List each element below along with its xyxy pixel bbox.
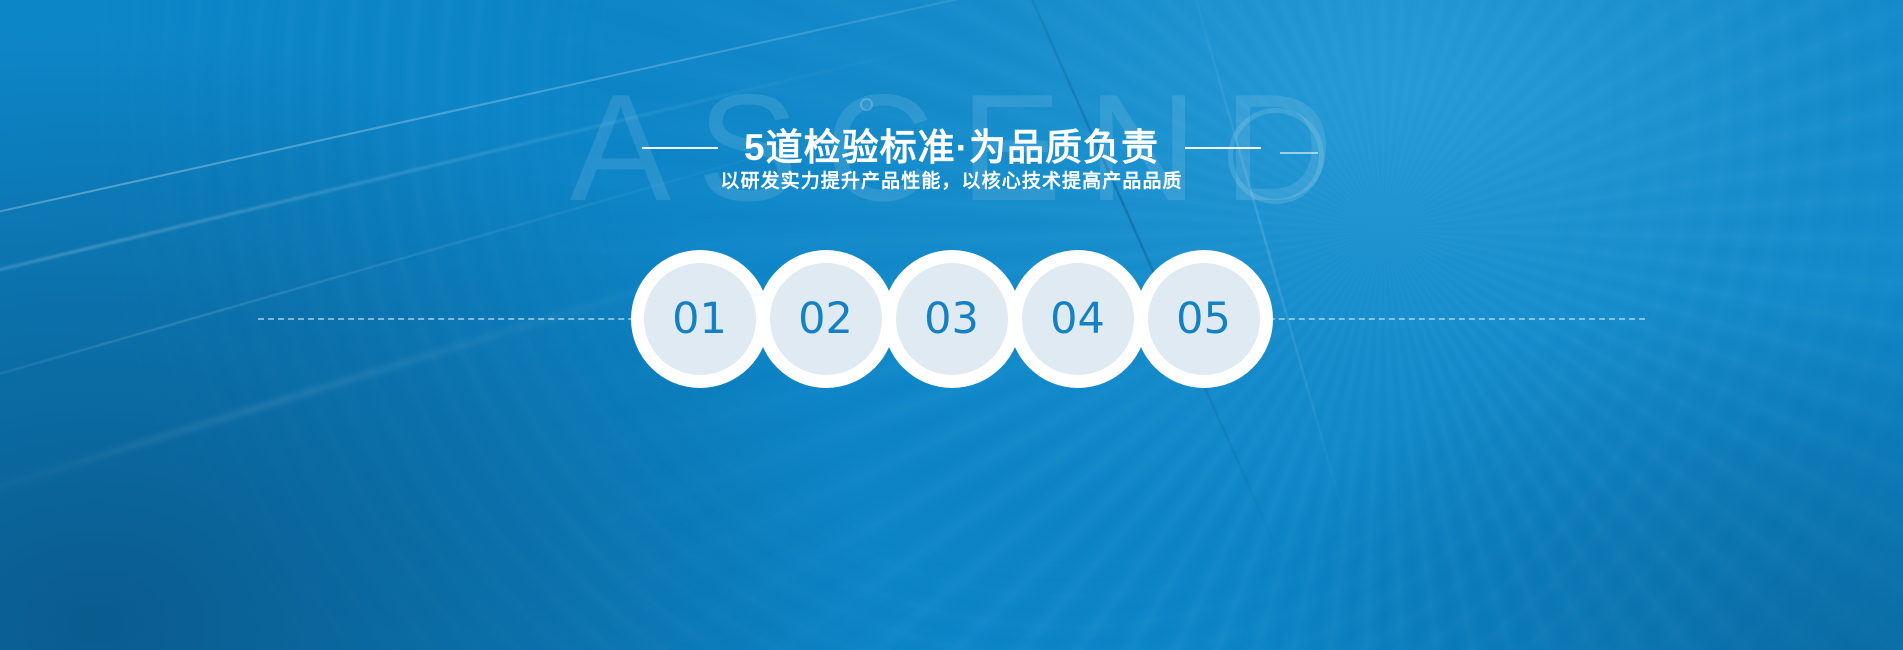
heading-rule-right-icon xyxy=(1185,147,1261,149)
step-circle-05[interactable]: 05 xyxy=(1135,250,1273,388)
step-circle-inner: 05 xyxy=(1148,263,1260,375)
quality-standards-banner: ASCEND 5道检验标准·为品质负责 以研发实力提升产品性能，以核心技术提高产… xyxy=(0,0,1903,650)
step-number: 04 xyxy=(1050,298,1105,341)
step-number: 02 xyxy=(798,298,853,341)
heading-rule-left-icon xyxy=(642,147,718,149)
step-number: 03 xyxy=(924,298,979,341)
step-number: 05 xyxy=(1176,298,1231,341)
step-circle-02[interactable]: 02 xyxy=(757,250,895,388)
step-circle-03[interactable]: 03 xyxy=(883,250,1021,388)
step-circle-01[interactable]: 01 xyxy=(631,250,769,388)
step-circle-inner: 03 xyxy=(896,263,1008,375)
step-circle-04[interactable]: 04 xyxy=(1009,250,1147,388)
step-circle-row: 01 02 03 04 05 xyxy=(0,250,1903,388)
step-circle-inner: 01 xyxy=(644,263,756,375)
process-steps: 01 02 03 04 05 xyxy=(0,250,1903,450)
step-circle-inner: 02 xyxy=(770,263,882,375)
step-circle-inner: 04 xyxy=(1022,263,1134,375)
page-title: 5道检验标准·为品质负责 xyxy=(744,125,1159,171)
page-subtitle: 以研发实力提升产品性能，以核心技术提高产品品质 xyxy=(0,166,1903,193)
step-number: 01 xyxy=(672,298,727,341)
